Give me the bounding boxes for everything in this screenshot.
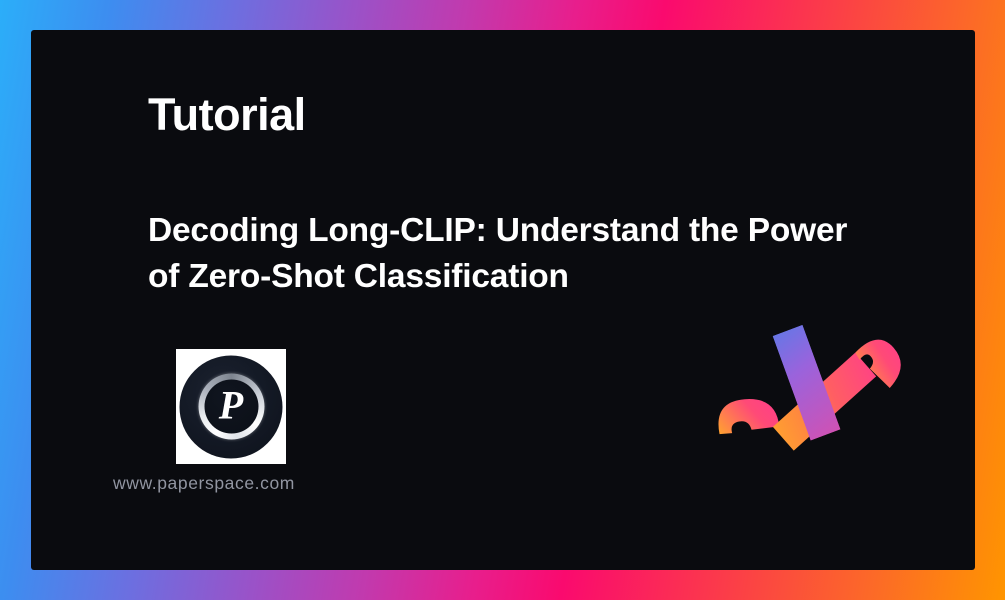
tutorial-banner: Tutorial Decoding Long-CLIP: Understand … <box>0 0 1005 600</box>
logo-letter-p: P <box>219 386 243 426</box>
paperspace-logo: P <box>176 349 286 464</box>
gradient-squiggle-icon <box>691 305 911 505</box>
banner-card: Tutorial Decoding Long-CLIP: Understand … <box>31 30 975 570</box>
banner-kicker: Tutorial <box>148 92 306 137</box>
site-url-label: www.paperspace.com <box>113 473 295 494</box>
banner-headline: Decoding Long-CLIP: Understand the Power… <box>148 208 848 299</box>
logo-disc-icon: P <box>180 355 283 458</box>
